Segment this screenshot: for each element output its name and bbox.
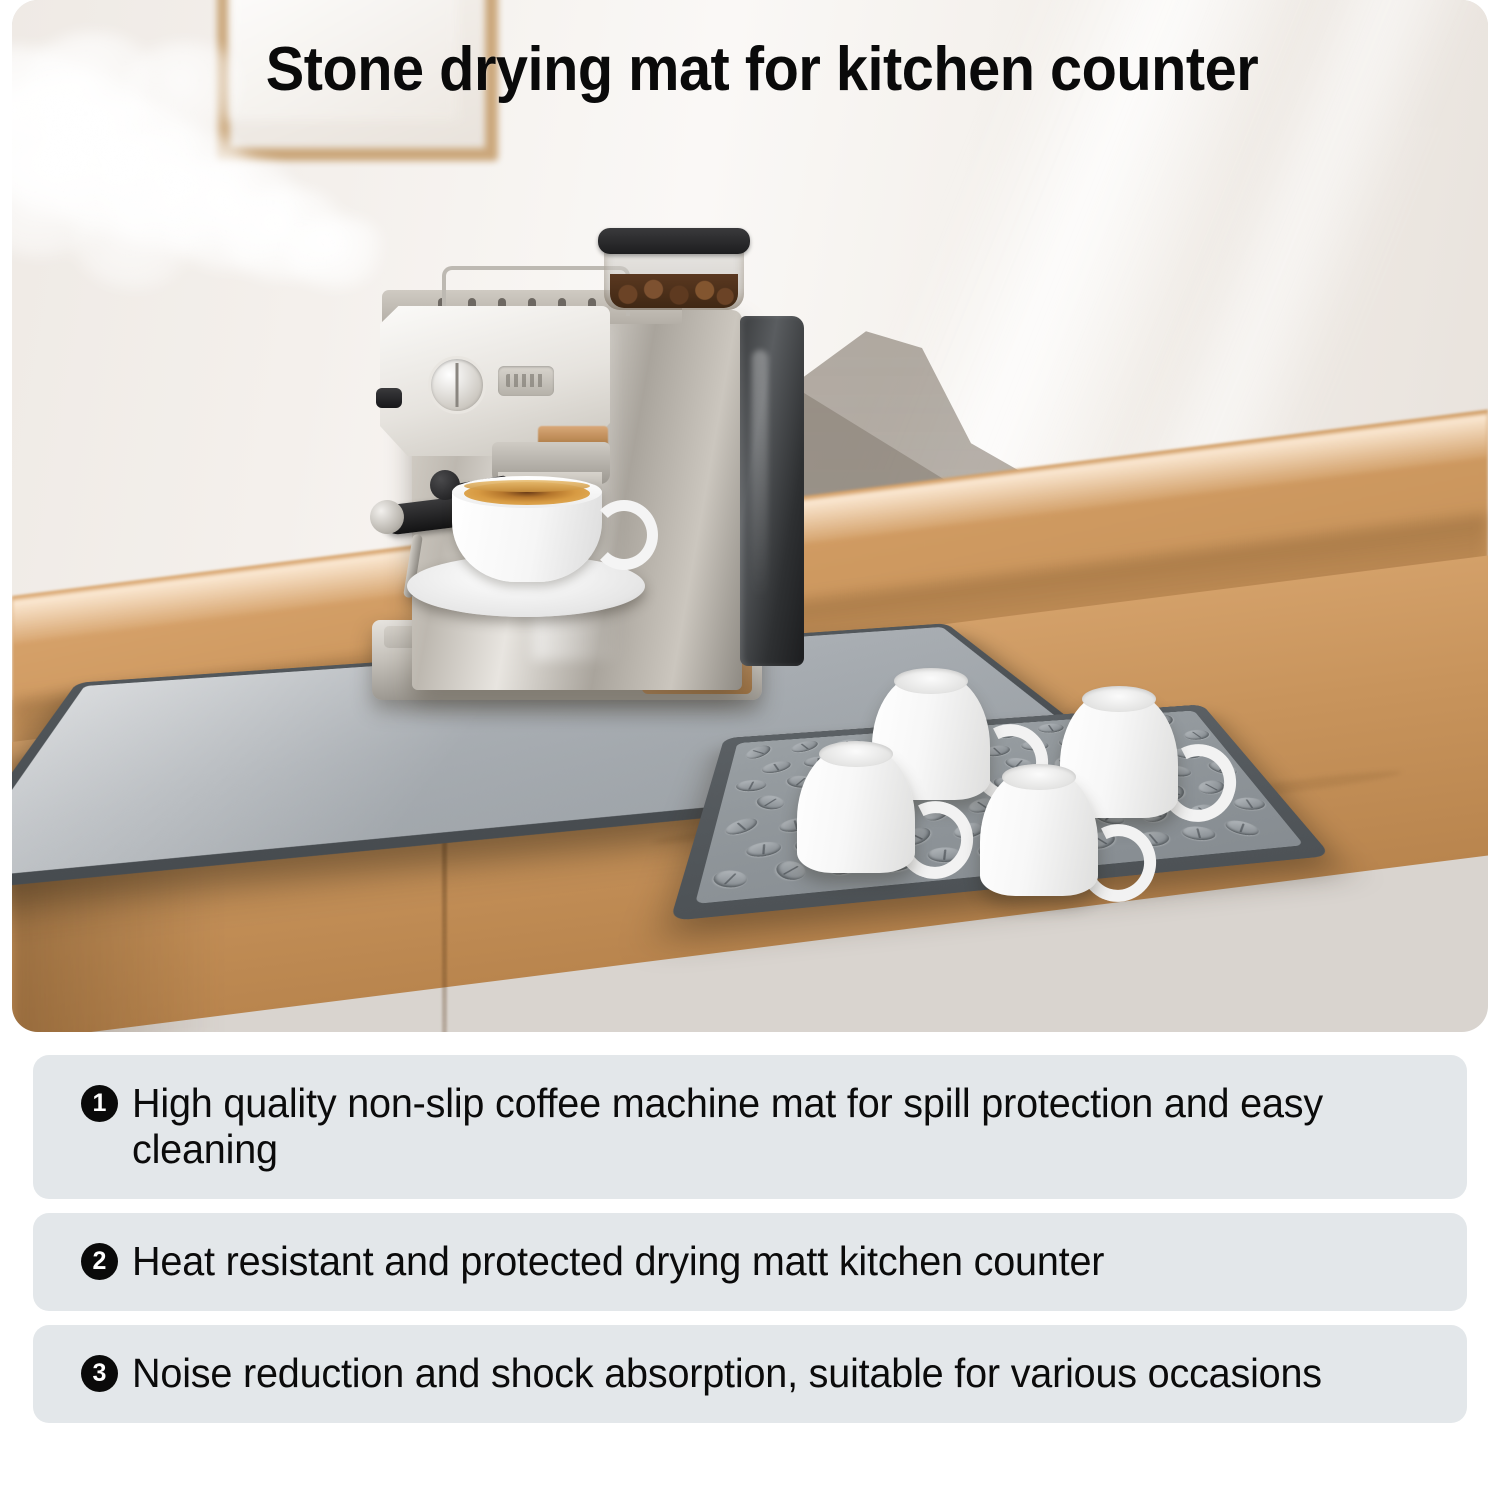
steam-nozzle — [376, 388, 402, 408]
bean-relief — [745, 840, 781, 858]
bean-hopper-lid — [598, 228, 750, 254]
bean-relief — [788, 739, 822, 755]
bean-relief — [1180, 728, 1213, 742]
coffee-crema-ring — [464, 480, 590, 492]
feature-card-1: 1 High quality non-slip coffee machine m… — [33, 1055, 1467, 1199]
page-title: Stone drying mat for kitchen counter — [65, 34, 1460, 105]
feature-text-1: High quality non-slip coffee machine mat… — [132, 1081, 1391, 1173]
bean-relief — [759, 759, 793, 776]
feature-card-2: 2 Heat resistant and protected drying ma… — [33, 1213, 1467, 1311]
bean-relief — [1231, 797, 1269, 811]
control-panel-label — [506, 374, 546, 387]
feature-list: 1 High quality non-slip coffee machine m… — [0, 1055, 1500, 1437]
product-hero-image: Stone drying mat for kitchen counter — [12, 0, 1488, 1032]
feature-badge-3: 3 — [81, 1355, 118, 1392]
feature-text-3: Noise reduction and shock absorption, su… — [132, 1351, 1322, 1397]
bean-relief — [741, 744, 775, 761]
bean-relief — [1181, 826, 1218, 841]
coffee-beans — [610, 274, 738, 308]
bean-relief — [1223, 818, 1260, 838]
espresso-machine — [342, 120, 862, 710]
bean-relief — [752, 793, 790, 812]
bean-relief — [722, 815, 762, 838]
bean-relief — [733, 780, 768, 792]
water-tank-gloss — [752, 350, 768, 600]
bean-relief — [708, 868, 753, 891]
water-tank — [740, 316, 804, 666]
pressure-dial — [428, 356, 486, 414]
feature-badge-2: 2 — [81, 1243, 118, 1280]
feature-card-3: 3 Noise reduction and shock absorption, … — [33, 1325, 1467, 1423]
bean-relief — [1035, 722, 1066, 734]
feature-text-2: Heat resistant and protected drying matt… — [132, 1239, 1104, 1285]
feature-badge-1: 1 — [81, 1085, 118, 1122]
coffee-cup-handle — [590, 500, 658, 570]
